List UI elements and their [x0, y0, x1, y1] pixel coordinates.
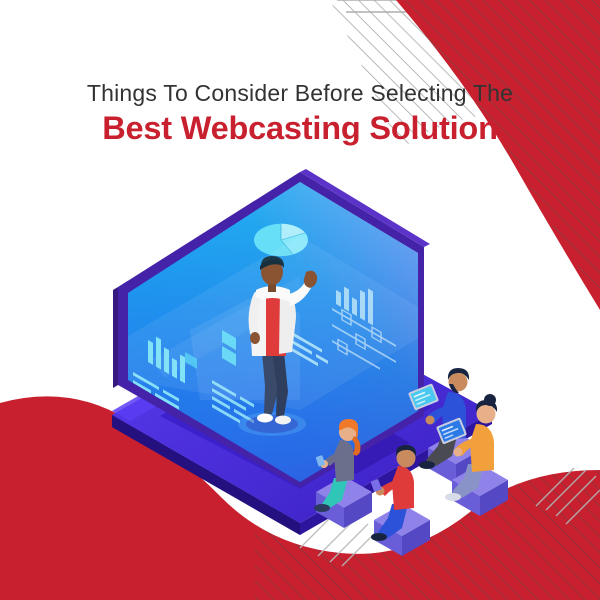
headline: Things To Consider Before Selecting The …	[0, 78, 600, 148]
laptop-illustration	[112, 169, 492, 535]
presenter-shoe-right	[275, 416, 291, 425]
head	[477, 405, 496, 424]
torso	[470, 424, 494, 472]
hair-bun	[484, 394, 496, 406]
hand	[454, 448, 463, 457]
presenter-shoe-left	[257, 414, 273, 423]
headline-line-1: Things To Consider Before Selecting The	[0, 78, 600, 108]
headline-line-2: Best Webcasting Solution	[0, 108, 600, 148]
shoe	[314, 504, 330, 512]
shoe	[371, 533, 387, 541]
shoe	[445, 493, 461, 501]
hand	[426, 416, 435, 425]
shoe	[419, 461, 435, 469]
presenter-hand-left	[250, 332, 260, 344]
poster-canvas: Things To Consider Before Selecting The …	[0, 0, 600, 600]
